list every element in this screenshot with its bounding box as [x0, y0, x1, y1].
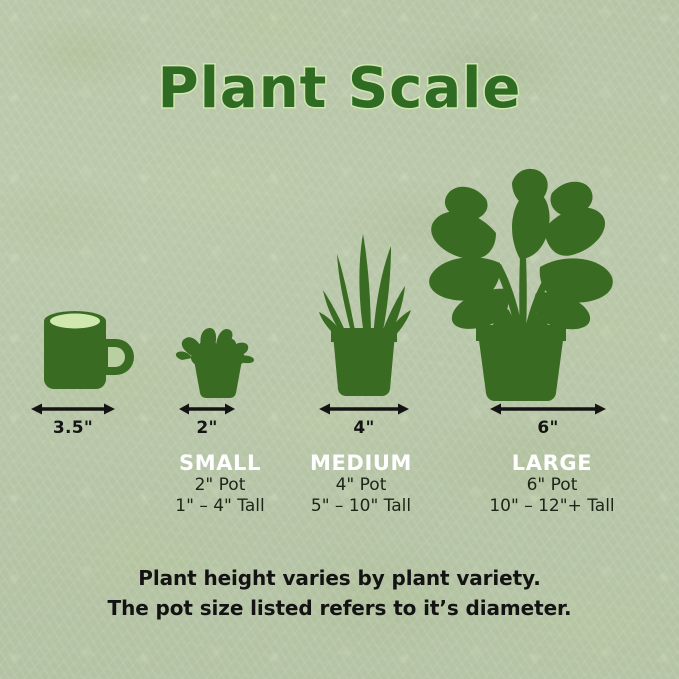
double-arrow-icon — [178, 401, 236, 417]
size-column-medium: MEDIUM 4" Pot 5" – 10" Tall — [286, 452, 436, 518]
size-columns: SMALL 2" Pot 1" – 4" Tall MEDIUM 4" Pot … — [0, 452, 679, 522]
page-title: Plant Scale — [0, 56, 679, 121]
footnote-line-2: The pot size listed refers to it’s diame… — [0, 593, 679, 623]
double-arrow-icon — [489, 401, 607, 417]
size-pot-small: 2" Pot — [150, 475, 290, 497]
measurement-large: 6" — [489, 401, 607, 438]
size-column-large: LARGE 6" Pot 10" – 12"+ Tall — [482, 452, 622, 518]
measurement-label-medium: 4" — [318, 418, 410, 438]
size-pot-medium: 4" Pot — [286, 475, 436, 497]
measurement-medium: 4" — [318, 401, 410, 438]
size-pot-large: 6" Pot — [482, 475, 622, 497]
double-arrow-icon — [30, 401, 116, 417]
mug-icon — [30, 305, 140, 400]
measurement-label-mug: 3.5" — [30, 418, 116, 438]
snake-plant-icon — [305, 228, 423, 400]
footnote: Plant height varies by plant variety. Th… — [0, 563, 679, 624]
measurement-small: 2" — [178, 401, 236, 438]
potted-plant-small-icon — [172, 320, 264, 398]
size-height-medium: 5" – 10" Tall — [286, 496, 436, 518]
coffee-mug-figure — [30, 305, 140, 400]
footnote-line-1: Plant height varies by plant variety. — [0, 563, 679, 593]
size-column-small: SMALL 2" Pot 1" – 4" Tall — [150, 452, 290, 518]
measurement-label-large: 6" — [489, 418, 607, 438]
measurement-mug: 3.5" — [30, 401, 116, 438]
size-name-large: LARGE — [482, 452, 622, 475]
size-name-medium: MEDIUM — [286, 452, 436, 475]
double-arrow-icon — [318, 401, 410, 417]
measurement-label-small: 2" — [178, 418, 236, 438]
potted-plant-large-icon — [420, 163, 616, 401]
small-plant-figure — [172, 320, 264, 398]
medium-plant-figure — [305, 228, 423, 400]
size-height-large: 10" – 12"+ Tall — [482, 496, 622, 518]
size-name-small: SMALL — [150, 452, 290, 475]
size-height-small: 1" – 4" Tall — [150, 496, 290, 518]
large-plant-figure — [420, 163, 616, 401]
plant-scale-infographic: Plant Scale — [0, 0, 679, 679]
